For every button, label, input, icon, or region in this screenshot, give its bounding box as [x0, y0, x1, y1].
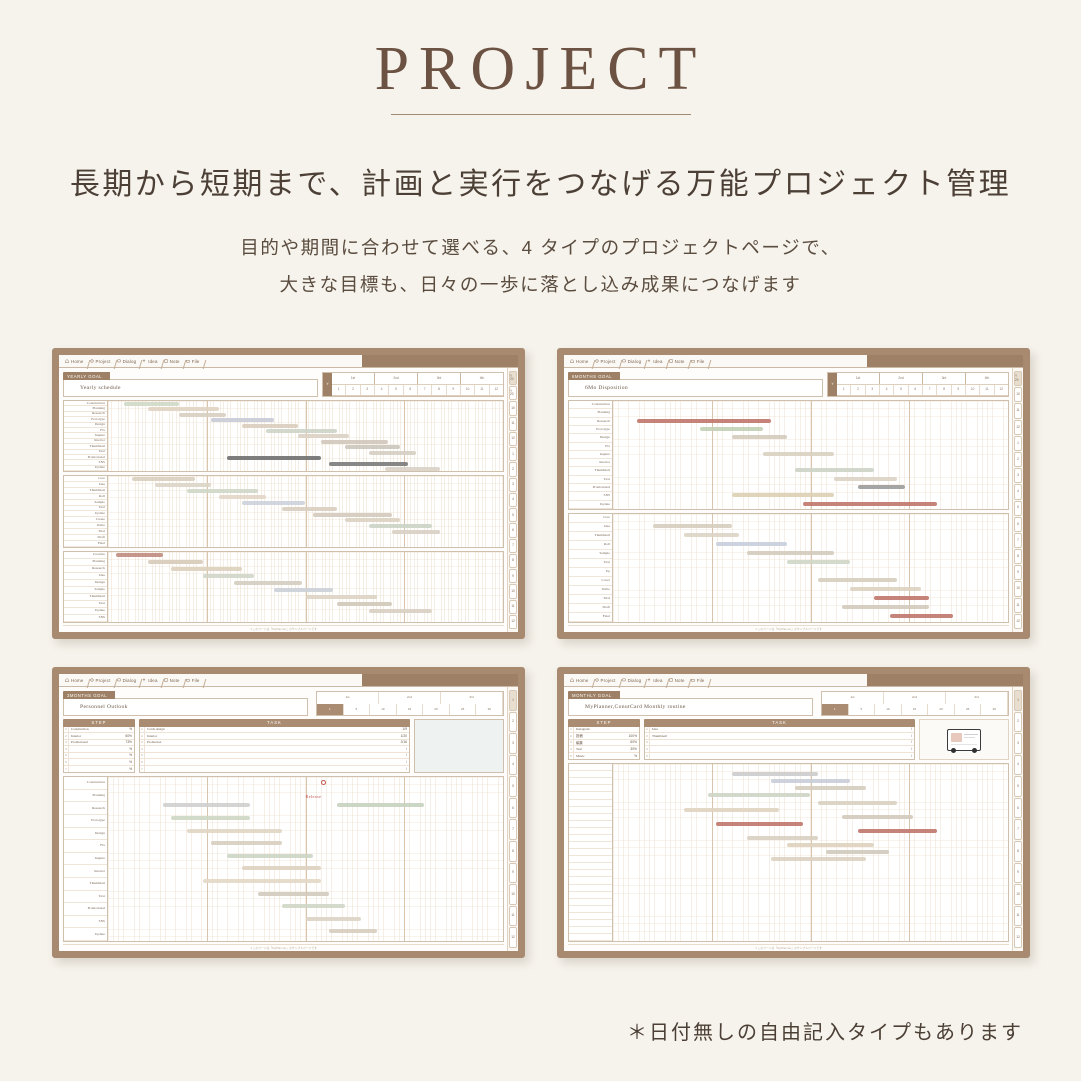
side-tab[interactable]: 4 [509, 493, 517, 507]
gantt-bar[interactable] [795, 468, 874, 472]
gantt-bar[interactable] [124, 402, 179, 406]
gantt-row-label[interactable] [569, 892, 612, 899]
tab-project[interactable]: Project [88, 359, 115, 364]
side-tab[interactable]: 1 [1014, 690, 1022, 711]
side-tab[interactable]: 1 [1014, 436, 1022, 451]
gantt-row-label[interactable]: Construction [569, 401, 612, 409]
gantt-row-label[interactable]: Research [64, 566, 107, 573]
gantt-bar[interactable] [803, 502, 937, 506]
row-label[interactable] [69, 759, 120, 765]
tab-note[interactable]: Note [162, 359, 184, 364]
row-label[interactable] [69, 746, 120, 752]
gantt-row-label[interactable]: Idea [64, 573, 107, 580]
gantt-bar[interactable] [148, 407, 219, 411]
side-tab[interactable]: 10 [509, 401, 517, 415]
gantt-row-label[interactable]: Draft [569, 604, 612, 613]
gantt-bar[interactable] [313, 513, 392, 517]
tab-project[interactable]: Project [88, 678, 115, 683]
due-date[interactable]: 1/20 [395, 733, 409, 739]
gantt-row-label[interactable]: Thumbnail [64, 878, 107, 891]
table-row[interactable]: 5Music% [569, 753, 639, 760]
side-tab[interactable]: 12 [1014, 420, 1022, 435]
gantt-row-label[interactable]: Design [64, 580, 107, 587]
free-note-box[interactable] [414, 719, 504, 773]
row-label[interactable]: Instagram [574, 727, 625, 733]
gantt-bar[interactable] [850, 587, 921, 591]
tab-dialog[interactable]: Dialog [620, 678, 646, 683]
gantt-row-label[interactable]: Text [569, 559, 612, 568]
progress-value[interactable]: 60% [120, 733, 134, 739]
side-tab[interactable]: 6 [1014, 517, 1022, 532]
tab-home[interactable]: Home [568, 678, 593, 683]
progress-value[interactable]: % [120, 727, 134, 733]
gantt-bar[interactable] [219, 495, 266, 499]
side-tab[interactable]: 9 [509, 569, 517, 583]
progress-value[interactable]: % [120, 753, 134, 759]
gantt-row-label[interactable] [569, 856, 612, 863]
gantt-bar[interactable] [203, 879, 322, 883]
side-tab[interactable]: 6 [509, 523, 517, 537]
gantt-bar[interactable] [321, 440, 388, 444]
due-date[interactable]: / [395, 753, 409, 759]
side-tab[interactable]: 10 [1014, 387, 1022, 402]
gantt-bar[interactable] [716, 542, 787, 546]
row-label[interactable] [69, 766, 120, 773]
gantt-row-label[interactable]: Planning [64, 790, 107, 803]
tab-dialog[interactable]: Dialog [115, 678, 141, 683]
tab-project[interactable]: Project [593, 678, 620, 683]
gantt-row-label[interactable] [569, 842, 612, 849]
tab-label: Project [96, 359, 111, 364]
gantt-row-label[interactable]: Prototype [569, 426, 612, 434]
due-date[interactable]: / [900, 733, 914, 739]
side-tab[interactable]: 2 [1014, 452, 1022, 467]
row-label[interactable]: 投稿 [574, 733, 625, 739]
gantt-bar[interactable] [747, 551, 834, 555]
side-tab[interactable]: 10 [509, 584, 517, 598]
gantt-row-label[interactable]: Promotional [569, 484, 612, 492]
row-label[interactable]: 編集 [574, 740, 625, 746]
table-row[interactable]: 5/ [645, 753, 914, 760]
tab-project[interactable]: Project [593, 359, 620, 364]
tab-home[interactable]: Home [568, 359, 593, 364]
gantt-bar[interactable] [306, 595, 377, 599]
gantt-row-label[interactable]: Planning [569, 409, 612, 417]
row-label[interactable] [650, 753, 900, 760]
gantt-bar[interactable] [747, 836, 818, 840]
gantt-bar[interactable] [818, 801, 897, 805]
gantt-bar[interactable] [763, 452, 834, 456]
gantt-row-label[interactable]: Update [64, 608, 107, 615]
tab-file[interactable]: File [689, 359, 709, 364]
gantt-bar[interactable] [274, 588, 333, 592]
row-label[interactable] [650, 740, 900, 746]
side-tab[interactable]: 5 [1014, 776, 1022, 797]
side-tab[interactable]: 3 [1014, 468, 1022, 483]
gantt-row-label[interactable]: Fix [569, 443, 612, 451]
side-tab[interactable]: 3 [509, 733, 517, 754]
gantt-bar[interactable] [329, 929, 376, 933]
gantt-row-label[interactable] [569, 863, 612, 870]
row-label[interactable]: Promotional [69, 740, 120, 746]
gantt-row-label[interactable]: Thumbnail [569, 467, 612, 475]
gantt-bar[interactable] [716, 822, 803, 826]
gantt-grid[interactable]: Release [108, 777, 503, 941]
due-date[interactable]: / [395, 746, 409, 752]
gantt-row-label[interactable]: Interior [64, 865, 107, 878]
due-date[interactable]: / [395, 759, 409, 765]
side-tab[interactable]: 6 [509, 798, 517, 819]
gantt-bar[interactable] [787, 843, 874, 847]
progress-value[interactable]: % [120, 759, 134, 765]
gantt-row-label[interactable]: Thumbnail [64, 594, 107, 601]
gantt-row-label[interactable]: Update [64, 928, 107, 941]
due-date[interactable]: / [900, 746, 914, 752]
gantt-bar[interactable] [242, 424, 297, 428]
gantt-bar[interactable] [637, 419, 771, 423]
side-tab[interactable]: 1 [509, 447, 517, 461]
tab-file[interactable]: File [184, 359, 204, 364]
side-tab[interactable]: 10 [1014, 884, 1022, 905]
gantt-bar[interactable] [874, 596, 929, 600]
gantt-row-label[interactable]: Final [64, 541, 107, 547]
side-tab[interactable]: 7 [509, 539, 517, 553]
gantt-row-label[interactable]: SNS [64, 615, 107, 622]
gantt-grid[interactable] [108, 552, 503, 622]
side-tab[interactable]: 3 [1014, 733, 1022, 754]
gantt-bar[interactable] [187, 489, 258, 493]
side-tab[interactable]: 12 [509, 615, 517, 629]
gantt-row-label[interactable] [569, 828, 612, 835]
row-label[interactable] [145, 759, 395, 765]
gantt-row-label[interactable]: Trial [569, 595, 612, 604]
side-tab[interactable]: 6 [1014, 798, 1022, 819]
progress-value[interactable]: 60% [625, 740, 639, 746]
goal-title-input[interactable]: MyPlanner,ConutCard Monthly routine [568, 699, 813, 716]
side-tab[interactable]: 4 [509, 755, 517, 776]
side-tab[interactable]: 4 [1014, 484, 1022, 499]
side-tab[interactable]: 5 [509, 508, 517, 522]
row-label[interactable]: Cards design [145, 727, 395, 733]
gantt-row-label[interactable]: Text [64, 891, 107, 904]
gantt-bar[interactable] [211, 418, 274, 422]
side-tab[interactable]: 11 [509, 906, 517, 927]
side-tab[interactable]: 10 [1014, 581, 1022, 596]
gantt-bar[interactable] [787, 560, 850, 564]
tab-file[interactable]: File [689, 678, 709, 683]
tab-home[interactable]: Home [63, 359, 88, 364]
gantt-bar[interactable] [234, 581, 301, 585]
goal-title-input[interactable]: 6Mo Disposition [568, 380, 823, 397]
gantt-grid[interactable] [613, 764, 1008, 941]
gantt-row-label[interactable]: Planning [64, 559, 107, 566]
tab-note[interactable]: Note [667, 678, 689, 683]
gantt-bar[interactable] [732, 435, 787, 439]
gantt-row-label[interactable] [569, 899, 612, 906]
gantt-bar[interactable] [337, 602, 392, 606]
gantt-row-label[interactable]: Research [569, 418, 612, 426]
goal-title-input[interactable]: Personnel Outlook [63, 699, 308, 716]
gantt-row-label[interactable]: Interior [569, 459, 612, 467]
tab-idea[interactable]: Idea [645, 359, 666, 364]
gantt-bar[interactable] [171, 816, 250, 820]
gantt-bar[interactable] [345, 445, 400, 449]
side-tab[interactable]: 12 [509, 432, 517, 446]
gantt-bar[interactable] [298, 434, 349, 438]
gantt-bar[interactable] [653, 524, 732, 528]
due-date[interactable]: 1/9 [395, 727, 409, 733]
gantt-bar[interactable] [266, 429, 337, 433]
gantt-row-label[interactable] [569, 906, 612, 913]
gantt-row-label[interactable] [569, 913, 612, 920]
gantt-row-label[interactable] [569, 870, 612, 877]
side-tab[interactable]: 2 [509, 712, 517, 733]
gantt-row-label[interactable]: Design [64, 828, 107, 841]
gantt-bar[interactable] [369, 451, 416, 455]
gantt-row-label[interactable]: Design [569, 434, 612, 442]
table-row[interactable]: 7% [64, 766, 134, 773]
tab-dialog[interactable]: Dialog [115, 359, 141, 364]
gantt-bar[interactable] [732, 772, 819, 776]
due-date[interactable]: / [900, 740, 914, 746]
side-tab[interactable]: 2 [1014, 712, 1022, 733]
goal-title-input[interactable]: Yearly schedule [63, 380, 318, 397]
gantt-bar[interactable] [227, 854, 314, 858]
tab-home[interactable]: Home [63, 678, 88, 683]
side-tab[interactable]: 2 [509, 462, 517, 476]
gantt-bar[interactable] [369, 609, 432, 613]
row-label[interactable]: Interior [69, 733, 120, 739]
side-tab[interactable]: 11 [509, 600, 517, 614]
side-tab[interactable]: 11 [1014, 598, 1022, 613]
gantt-bar[interactable] [834, 477, 897, 481]
gantt-bar[interactable] [187, 829, 282, 833]
gantt-row-label[interactable] [569, 934, 612, 941]
gantt-grid[interactable] [108, 401, 503, 471]
side-tab[interactable]: 1 [509, 690, 517, 711]
due-date[interactable]: / [900, 727, 914, 733]
gantt-row-label[interactable] [569, 800, 612, 807]
gantt-bar[interactable] [708, 793, 811, 797]
gantt-row-label[interactable] [569, 771, 612, 778]
tab-file[interactable]: File [184, 678, 204, 683]
side-tab[interactable]: 9 [509, 863, 517, 884]
progress-value[interactable]: 100% [625, 733, 639, 739]
side-tab[interactable]: Y 20 [1014, 371, 1022, 386]
gantt-bar[interactable] [132, 477, 195, 481]
row-label[interactable]: Idea [650, 727, 900, 733]
gantt-row-label[interactable]: SNS [64, 916, 107, 929]
gantt-row-label[interactable]: Inquire [64, 853, 107, 866]
tab-idea[interactable]: Idea [645, 678, 666, 683]
gantt-row-label[interactable]: Thumbnail [569, 532, 612, 541]
side-tab[interactable]: 11 [509, 417, 517, 431]
gantt-row-label[interactable]: SNS [569, 492, 612, 500]
gantt-bar[interactable] [227, 456, 322, 460]
row-label[interactable] [145, 746, 395, 752]
gantt-row-label[interactable]: Promotional [64, 903, 107, 916]
gantt-row-label[interactable] [569, 821, 612, 828]
tab-note[interactable]: Note [667, 359, 689, 364]
gantt-bar[interactable] [282, 507, 337, 511]
gantt-row-label[interactable]: Fix [64, 840, 107, 853]
gantt-row-label[interactable]: Inquire [569, 451, 612, 459]
gantt-bar[interactable] [684, 808, 779, 812]
row-label[interactable] [145, 753, 395, 759]
progress-value[interactable]: 73% [120, 740, 134, 746]
gantt-row-label[interactable]: Construction [64, 777, 107, 790]
side-tab[interactable]: 8 [509, 841, 517, 862]
gantt-grid[interactable] [613, 401, 1008, 509]
gantt-bar[interactable] [329, 462, 408, 466]
tab-note[interactable]: Note [162, 678, 184, 683]
gantt-row-label[interactable]: Prototype [64, 815, 107, 828]
side-tab[interactable]: 7 [1014, 819, 1022, 840]
gantt-row-label[interactable]: Up [569, 568, 612, 577]
row-label[interactable]: Construction [69, 727, 120, 733]
gantt-bar[interactable] [242, 866, 321, 870]
gantt-row-label[interactable] [569, 785, 612, 792]
gantt-bar[interactable] [842, 605, 929, 609]
row-label[interactable]: Text [574, 746, 625, 752]
gantt-bar[interactable] [842, 815, 913, 819]
gantt-bar[interactable] [116, 553, 163, 557]
side-tab[interactable]: 5 [509, 776, 517, 797]
gantt-row-label[interactable]: Invite [569, 586, 612, 595]
gantt-bar[interactable] [258, 892, 329, 896]
gantt-bar[interactable] [242, 501, 305, 505]
gantt-row-label[interactable]: Text [569, 476, 612, 484]
gantt-bar[interactable] [818, 578, 897, 582]
row-label[interactable]: Music [574, 753, 625, 760]
sticker-area[interactable] [919, 719, 1009, 760]
progress-value[interactable]: % [120, 746, 134, 752]
gantt-row-label[interactable]: Roll [569, 541, 612, 550]
gantt-bar[interactable] [684, 533, 739, 537]
gantt-bar[interactable] [148, 560, 203, 564]
side-tab[interactable]: 12 [509, 927, 517, 948]
due-date[interactable]: 2/16 [395, 740, 409, 746]
gantt-bar[interactable] [795, 786, 866, 790]
row-label[interactable]: Thumbnail [650, 733, 900, 739]
side-tab[interactable]: 12 [1014, 927, 1022, 948]
gantt-row-label[interactable] [569, 877, 612, 884]
side-tab[interactable]: Y 20 [509, 371, 517, 385]
gantt-row-label[interactable] [569, 927, 612, 934]
row-label[interactable]: Interior [145, 733, 395, 739]
progress-value[interactable]: % [120, 766, 134, 773]
progress-value[interactable]: % [625, 753, 639, 760]
gantt-row-label[interactable]: Sample [64, 587, 107, 594]
gantt-row-label[interactable] [569, 849, 612, 856]
side-tab[interactable]: 12 [1014, 614, 1022, 629]
side-tab[interactable]: 8 [509, 554, 517, 568]
gantt-bar[interactable] [392, 530, 439, 534]
side-tab[interactable]: 7 [1014, 533, 1022, 548]
tab-dialog[interactable]: Dialog [620, 359, 646, 364]
gantt-row-label[interactable]: Idea [569, 523, 612, 532]
gantt-bar[interactable] [890, 614, 953, 618]
due-date[interactable]: / [900, 753, 914, 760]
progress-value[interactable]: 30% [625, 746, 639, 752]
row-label[interactable]: Promotion [145, 740, 395, 746]
gantt-bar[interactable] [171, 567, 242, 571]
gantt-row-label[interactable]: Research [64, 802, 107, 815]
gantt-row-label[interactable] [569, 792, 612, 799]
gantt-row-label[interactable] [569, 920, 612, 927]
side-tab[interactable]: 11 [1014, 906, 1022, 927]
gantt-bar[interactable] [732, 493, 835, 497]
gantt-grid[interactable] [108, 476, 503, 546]
gantt-bar[interactable] [211, 841, 282, 845]
gantt-row-label[interactable] [569, 835, 612, 842]
gantt-bar[interactable] [826, 850, 889, 854]
gantt-row-label[interactable]: Cover [569, 577, 612, 586]
gantt-row-label[interactable] [569, 885, 612, 892]
row-label[interactable] [145, 766, 395, 773]
tab-idea[interactable]: Idea [140, 678, 161, 683]
side-tab[interactable]: 11 [1014, 403, 1022, 418]
side-tab[interactable]: 5 [1014, 501, 1022, 516]
gantt-bar[interactable] [858, 829, 937, 833]
gantt-bar[interactable] [337, 803, 424, 807]
gantt-row-label[interactable] [569, 814, 612, 821]
scale-day: 25 [955, 704, 982, 716]
side-tab[interactable]: 9 [1014, 863, 1022, 884]
gantt-bar[interactable] [369, 524, 432, 528]
side-tab[interactable]: 7 [509, 819, 517, 840]
gantt-row-label[interactable] [569, 778, 612, 785]
gantt-row-label[interactable]: Update [569, 501, 612, 509]
gantt-bar[interactable] [163, 803, 250, 807]
gantt-bar[interactable] [700, 427, 763, 431]
side-tab[interactable]: 9 [1014, 565, 1022, 580]
row-label[interactable] [69, 753, 120, 759]
gantt-bar[interactable] [203, 574, 254, 578]
gantt-row-label[interactable] [569, 764, 612, 771]
gantt-row-label[interactable]: Final [569, 613, 612, 622]
gantt-row-label[interactable]: Core [569, 514, 612, 523]
gantt-grid[interactable] [613, 514, 1008, 622]
gantt-bar[interactable] [179, 413, 226, 417]
gantt-row-label[interactable]: Sample [569, 550, 612, 559]
gantt-bar[interactable] [282, 904, 345, 908]
side-tab[interactable]: 8 [1014, 549, 1022, 564]
gantt-bar[interactable] [155, 483, 210, 487]
gantt-bar[interactable] [858, 485, 905, 489]
progress-value[interactable] [625, 727, 639, 733]
tab-idea[interactable]: Idea [140, 359, 161, 364]
gantt-row-label[interactable]: Text [64, 601, 107, 608]
side-tab[interactable]: 8 [1014, 841, 1022, 862]
goal-header: MONTHLY GOALMyPlanner,ConutCard Monthly … [568, 691, 813, 716]
row-label[interactable] [650, 746, 900, 752]
side-tab[interactable]: 3 [509, 478, 517, 492]
gantt-bar[interactable] [771, 857, 866, 861]
gantt-bar[interactable] [306, 917, 361, 921]
gantt-bar[interactable] [345, 518, 400, 522]
gantt-row-label[interactable]: Creative [64, 552, 107, 559]
side-tab[interactable]: Y 20 [509, 386, 517, 400]
gantt-row-label[interactable] [569, 807, 612, 814]
due-date[interactable]: / [395, 766, 409, 773]
table-row[interactable]: 7/ [140, 766, 409, 773]
side-tab[interactable]: 10 [509, 884, 517, 905]
gantt-bar[interactable] [385, 467, 440, 471]
side-tab[interactable]: 4 [1014, 755, 1022, 776]
gantt-row-label[interactable]: Update [64, 466, 107, 471]
gantt-bar[interactable] [771, 779, 850, 783]
